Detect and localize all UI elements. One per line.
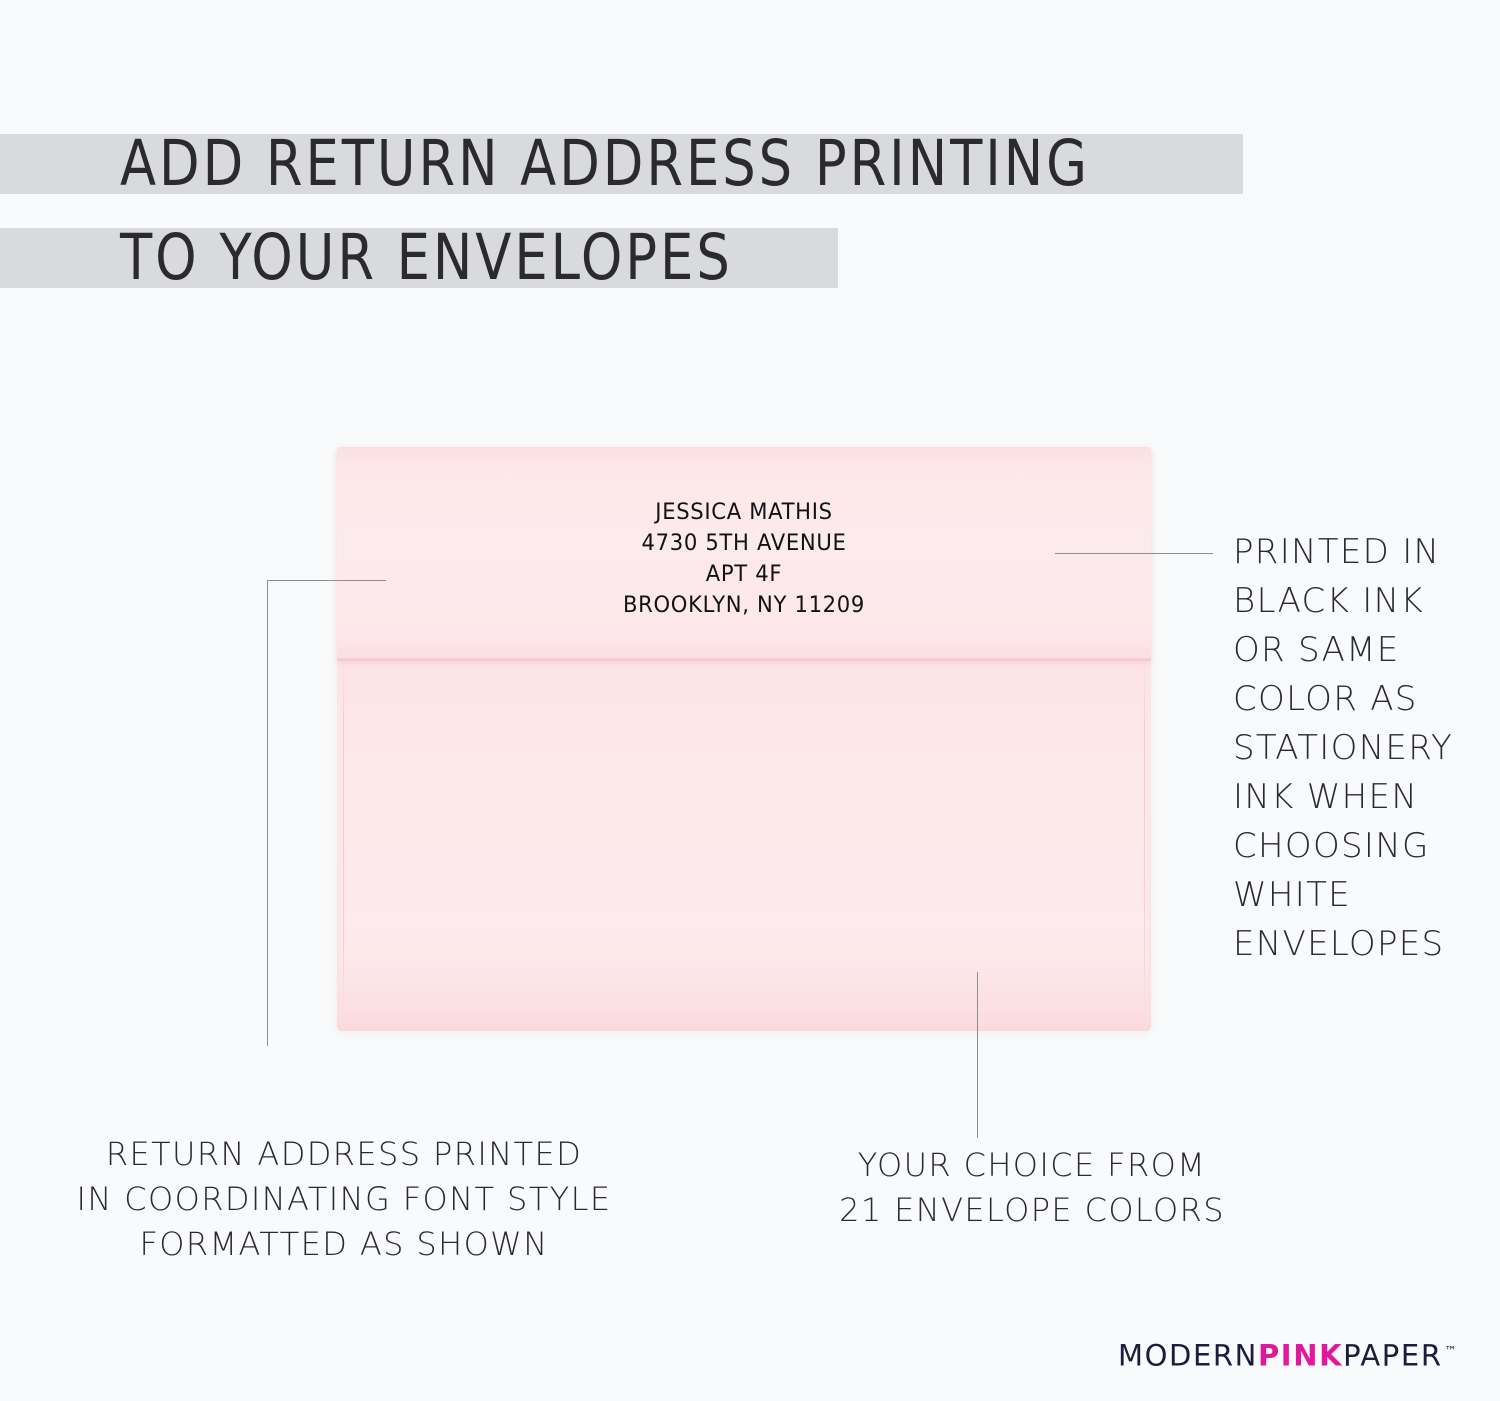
leader-line-right-horizontal: [1055, 553, 1213, 554]
title-line-1: ADD RETURN ADDRESS PRINTING: [0, 128, 1280, 200]
callout-printed-in-black-ink: PRINTED IN BLACK INK OR SAME COLOR AS ST…: [1233, 528, 1483, 969]
title-text-2: TO YOUR ENVELOPES: [120, 222, 733, 294]
envelope-right-seam: [1144, 662, 1145, 1022]
return-address-unit: APT 4F: [353, 559, 1134, 590]
logo-text-pink: PINK: [1258, 1339, 1343, 1373]
leader-line-left-vertical: [267, 580, 268, 1046]
title-line-2: TO YOUR ENVELOPES: [0, 222, 1280, 294]
trademark-icon: ™: [1445, 1344, 1457, 1358]
logo-text-modern: MODERN: [1118, 1339, 1258, 1373]
title-text-1: ADD RETURN ADDRESS PRINTING: [120, 128, 1090, 200]
marketing-graphic-canvas: ADD RETURN ADDRESS PRINTING TO YOUR ENVE…: [0, 0, 1500, 1401]
return-address-city-state-zip: BROOKLYN, NY 11209: [353, 590, 1134, 621]
envelope-left-seam: [343, 662, 344, 1022]
brand-logo: MODERNPINKPAPER™: [1118, 1334, 1457, 1373]
return-address-block: JESSICA MATHIS 4730 5TH AVENUE APT 4F BR…: [337, 497, 1151, 621]
leader-line-middle-vertical: [977, 972, 978, 1138]
callout-return-address-font-style: RETURN ADDRESS PRINTED IN COORDINATING F…: [30, 1132, 658, 1267]
logo-text-paper: PAPER: [1343, 1339, 1442, 1373]
page-title: ADD RETURN ADDRESS PRINTING TO YOUR ENVE…: [0, 128, 1280, 294]
envelope-illustration: JESSICA MATHIS 4730 5TH AVENUE APT 4F BR…: [337, 447, 1151, 1031]
callout-envelope-colors: YOUR CHOICE FROM 21 ENVELOPE COLORS: [818, 1143, 1246, 1233]
envelope-flap-edge: [337, 658, 1151, 661]
leader-line-left-horizontal: [267, 580, 386, 581]
return-address-name: JESSICA MATHIS: [353, 497, 1134, 528]
return-address-street: 4730 5TH AVENUE: [353, 528, 1134, 559]
